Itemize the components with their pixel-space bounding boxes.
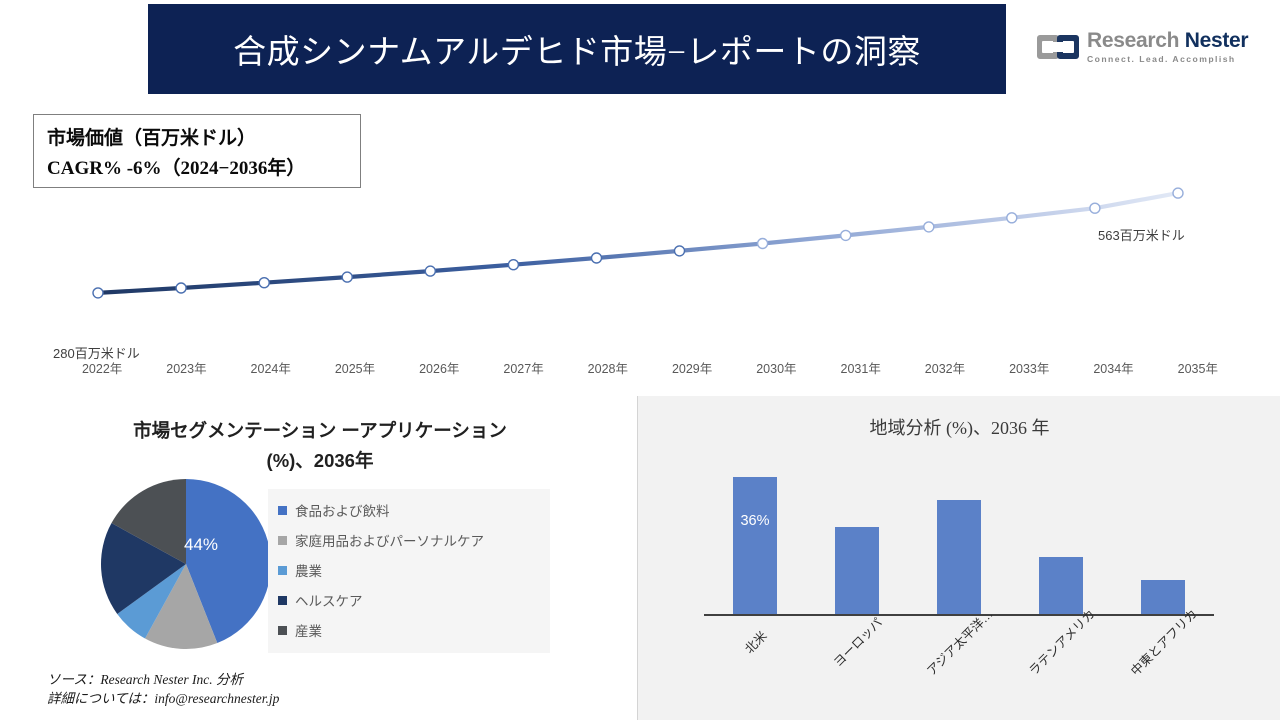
- bar-slot: [1010, 456, 1112, 614]
- bar-category-label: ラテンアメリカ: [1024, 604, 1099, 679]
- line-data-point: [1007, 213, 1017, 223]
- line-data-point: [1173, 188, 1183, 198]
- line-data-point: [841, 230, 851, 240]
- legend-item[interactable]: 農業: [278, 555, 542, 585]
- bar-label-slot: ラテンアメリカ: [1010, 616, 1112, 696]
- bar-label-slot: 中東とアフリカ: [1112, 616, 1214, 696]
- line-data-point: [425, 266, 435, 276]
- pie-largest-slice-label: 44%: [184, 535, 218, 555]
- bar-category-label: 北米: [739, 626, 770, 657]
- link-chain-icon: [1036, 32, 1080, 62]
- legend-swatch-icon: [278, 596, 287, 605]
- line-data-point: [675, 246, 685, 256]
- logo-name: Research Nester: [1087, 30, 1248, 51]
- legend-swatch-icon: [278, 626, 287, 635]
- segmentation-title-main: 市場セグメンテーション ーアプリケーション: [133, 420, 507, 441]
- bar-label-slot: ヨーロッパ: [806, 616, 908, 696]
- x-axis-tick-label: 2030年: [734, 358, 818, 377]
- regional-bars: 36%: [704, 456, 1214, 614]
- x-axis-tick-label: 2028年: [566, 358, 650, 377]
- x-axis-tick-label: 2022年: [60, 358, 144, 377]
- x-axis-tick-label: 2023年: [144, 358, 228, 377]
- market-value-line-chart: 280百万米ドル 563百万米ドル: [0, 95, 1280, 395]
- legend-item-label: 家庭用品およびパーソナルケア: [295, 530, 484, 550]
- pie-slices: [101, 479, 271, 649]
- bar-label-slot: アジア太平洋…: [908, 616, 1010, 696]
- segmentation-title-sub: (%)、2036年: [30, 446, 610, 476]
- regional-analysis-title: 地域分析 (%)、2036 年: [638, 414, 1280, 440]
- x-axis-tick-label: 2035年: [1156, 358, 1240, 377]
- bar-category-label: 中東とアフリカ: [1125, 604, 1200, 679]
- legend-swatch-icon: [278, 566, 287, 575]
- x-axis-tick-label: 2033年: [987, 358, 1071, 377]
- segmentation-pie-chart: 44%: [96, 478, 276, 650]
- line-data-point: [508, 260, 518, 270]
- bar-slot: [806, 456, 908, 614]
- legend-item-label: ヘルスケア: [295, 590, 363, 610]
- source-footnote: ソース：Research Nester Inc. 分析 詳細については：info…: [47, 670, 279, 708]
- line-data-point: [93, 288, 103, 298]
- x-axis-tick-label: 2032年: [903, 358, 987, 377]
- regional-bar-x-axis: 北米ヨーロッパアジア太平洋…ラテンアメリカ中東とアフリカ: [704, 616, 1214, 696]
- x-axis-tick-label: 2034年: [1071, 358, 1155, 377]
- region-bar[interactable]: 36%: [733, 477, 777, 614]
- bar-category-label: ヨーロッパ: [828, 613, 886, 671]
- logo-name-research: Research: [1087, 29, 1185, 52]
- segmentation-panel: 市場セグメンテーション ーアプリケーション (%)、2036年 44% 食品およ…: [0, 396, 637, 720]
- legend-item[interactable]: 食品および飲料: [278, 495, 542, 525]
- line-data-point: [758, 239, 768, 249]
- legend-item[interactable]: 家庭用品およびパーソナルケア: [278, 525, 542, 555]
- research-nester-logo: Research Nester Connect. Lead. Accomplis…: [1036, 22, 1262, 72]
- x-axis-tick-label: 2029年: [650, 358, 734, 377]
- legend-swatch-icon: [278, 506, 287, 515]
- bar-value-label: 36%: [733, 513, 777, 529]
- region-bar[interactable]: [1141, 580, 1185, 614]
- line-data-point: [259, 278, 269, 288]
- page-title: 合成シンナムアルデヒド市場−レポートの洞察: [233, 25, 921, 73]
- legend-item[interactable]: ヘルスケア: [278, 585, 542, 615]
- line-end-value-label: 563百万米ドル: [1098, 225, 1185, 244]
- line-chart-svg: [0, 95, 1280, 395]
- legend-item-label: 農業: [295, 560, 322, 580]
- region-bar[interactable]: [835, 527, 879, 614]
- segmentation-title: 市場セグメンテーション ーアプリケーション (%)、2036年: [30, 416, 610, 476]
- line-series: [98, 193, 1178, 293]
- x-axis-tick-label: 2027年: [481, 358, 565, 377]
- pie-svg: [96, 478, 276, 650]
- legend-item[interactable]: 産業: [278, 615, 542, 645]
- region-bar[interactable]: [1039, 557, 1083, 614]
- source-line: ソース：Research Nester Inc. 分析: [47, 670, 279, 689]
- line-data-point: [924, 222, 934, 232]
- bar-slot: [1112, 456, 1214, 614]
- bar-slot: [908, 456, 1010, 614]
- header-band: 合成シンナムアルデヒド市場−レポートの洞察: [148, 4, 1006, 94]
- line-data-point: [342, 272, 352, 282]
- bar-slot: 36%: [704, 456, 806, 614]
- x-axis-tick-label: 2026年: [397, 358, 481, 377]
- region-bar[interactable]: [937, 500, 981, 614]
- line-data-point: [1090, 203, 1100, 213]
- legend-item-label: 食品および飲料: [295, 500, 390, 520]
- x-axis-tick-label: 2025年: [313, 358, 397, 377]
- contact-line: 詳細については：info@researchnester.jp: [47, 689, 279, 708]
- logo-text: Research Nester Connect. Lead. Accomplis…: [1087, 30, 1248, 64]
- legend-item-label: 産業: [295, 620, 322, 640]
- x-axis-tick-label: 2024年: [229, 358, 313, 377]
- pie-legend: 食品および飲料家庭用品およびパーソナルケア農業ヘルスケア産業: [268, 489, 550, 653]
- logo-tagline: Connect. Lead. Accomplish: [1087, 55, 1248, 64]
- logo-name-nester: Nester: [1185, 29, 1249, 52]
- line-chart-x-axis: 2022年2023年2024年2025年2026年2027年2028年2029年…: [60, 358, 1240, 377]
- x-axis-tick-label: 2031年: [819, 358, 903, 377]
- legend-swatch-icon: [278, 536, 287, 545]
- line-data-point: [176, 283, 186, 293]
- line-data-point: [592, 253, 602, 263]
- bar-label-slot: 北米: [704, 616, 806, 696]
- regional-analysis-panel: 地域分析 (%)、2036 年 36% 北米ヨーロッパアジア太平洋…ラテンアメリ…: [637, 396, 1280, 720]
- bar-category-label: アジア太平洋…: [922, 604, 997, 679]
